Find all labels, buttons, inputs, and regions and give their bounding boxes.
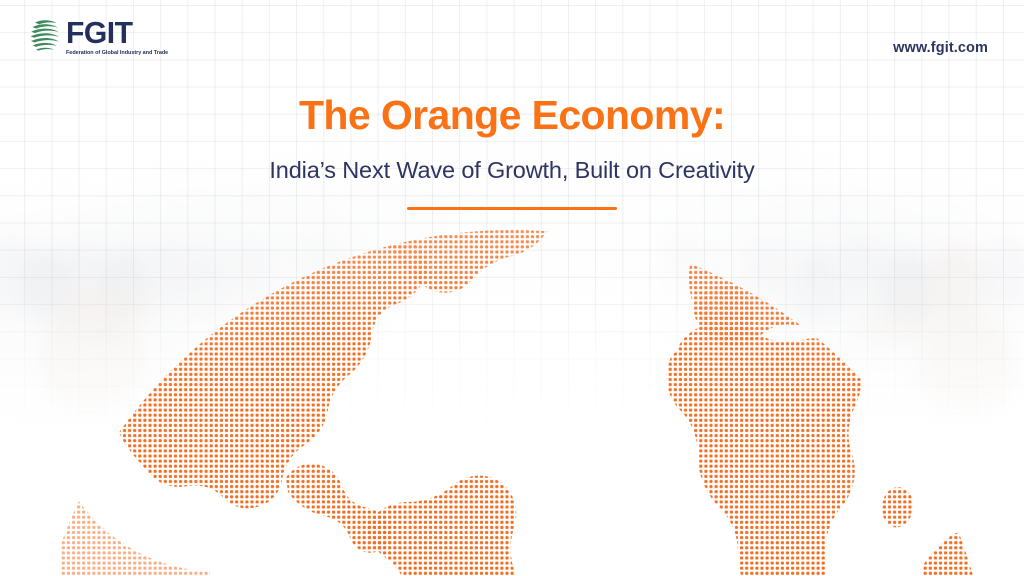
green-globe-swoosh-icon <box>28 16 62 54</box>
fgit-logo[interactable]: FGIT Federation of Global Industry and T… <box>28 16 166 57</box>
crowd-silhouette <box>0 236 40 314</box>
logo-tagline: Federation of Global Industry and Trade <box>66 49 168 57</box>
background-grid <box>0 0 1024 576</box>
crowd-silhouette <box>62 240 108 304</box>
crowd-silhouette <box>838 238 886 304</box>
crowd-raised-hands <box>856 300 944 348</box>
crowd-photo-background <box>0 0 1024 576</box>
crowd-photo-base <box>0 0 1024 576</box>
logo-wordmark: FGIT <box>66 17 133 48</box>
crowd-silhouette <box>664 238 706 294</box>
crowd-silhouette <box>300 238 340 292</box>
crowd-silhouette <box>232 246 274 304</box>
crowd-silhouette <box>880 252 936 328</box>
crowd-silhouette <box>742 244 788 306</box>
crowd-silhouette <box>980 240 1024 310</box>
crowd-silhouette <box>146 244 190 306</box>
halftone-world-map-globe <box>0 0 1024 576</box>
crowd-silhouette <box>40 300 144 412</box>
crowd-silhouette <box>920 312 1016 416</box>
page-title: The Orange Economy: <box>0 92 1024 138</box>
crowd-silhouette <box>790 252 842 322</box>
crowd-photo-whitening-overlay <box>0 0 1024 576</box>
crowd-silhouette <box>22 250 74 320</box>
crowd-silhouette <box>100 252 150 320</box>
presentation-slide: FGIT Federation of Global Industry and T… <box>0 0 1024 576</box>
website-url[interactable]: www.fgit.com <box>893 40 988 56</box>
crowd-raised-hands <box>56 286 152 338</box>
title-divider <box>407 207 617 210</box>
crowd-silhouette <box>186 250 232 314</box>
crowd-silhouette <box>930 246 984 320</box>
title-block: The Orange Economy: India’s Next Wave of… <box>0 92 1024 210</box>
page-subtitle: India’s Next Wave of Growth, Built on Cr… <box>0 155 1024 185</box>
